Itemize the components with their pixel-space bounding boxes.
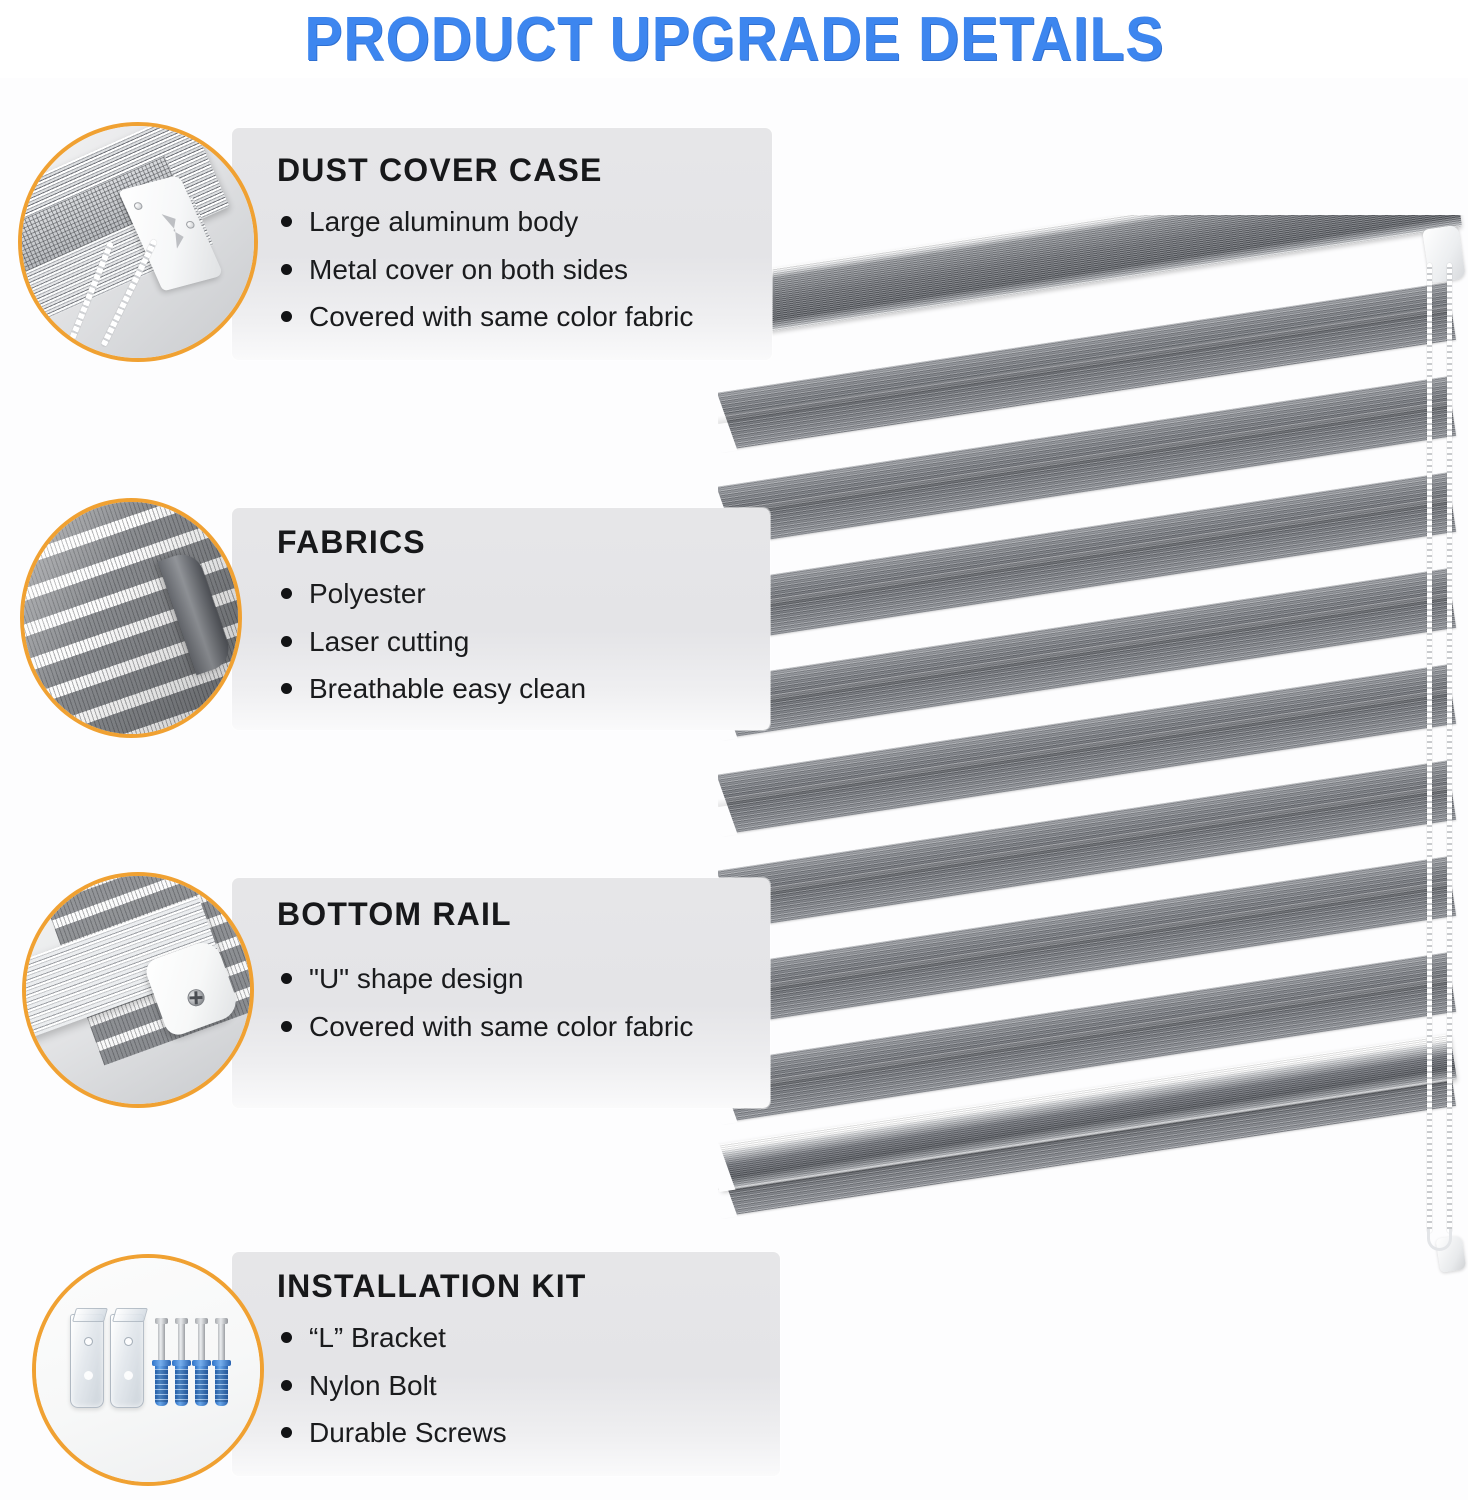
feature-bullet-list: "U" shape design Covered with same color… <box>277 955 693 1050</box>
screw-icon <box>133 201 144 210</box>
nylon-bolt <box>195 1360 208 1406</box>
feature-bullet: Large aluminum body <box>277 198 693 246</box>
feature-bullet-list: Large aluminum body Metal cover on both … <box>277 198 693 341</box>
feature-text-installation-kit: INSTALLATION KIT “L” Bracket Nylon Bolt … <box>277 1268 587 1457</box>
installation-kit-photo <box>32 1254 264 1486</box>
feature-bullet: Covered with same color fabric <box>277 1003 693 1051</box>
l-bracket <box>110 1314 144 1408</box>
feature-title: BOTTOM RAIL <box>277 896 693 933</box>
feature-bullet-list: “L” Bracket Nylon Bolt Durable Screws <box>277 1314 587 1457</box>
title-bar: PRODUCT UPGRADE DETAILS <box>0 0 1468 78</box>
feature-bullet: “L” Bracket <box>277 1314 587 1362</box>
feature-text-bottom-rail: BOTTOM RAIL "U" shape design Covered wit… <box>277 896 693 1050</box>
dust-cover-case-photo <box>18 122 258 362</box>
feature-bullet: Nylon Bolt <box>277 1362 587 1410</box>
phillips-screw-icon <box>185 987 207 1009</box>
durable-screw <box>178 1318 185 1364</box>
bead-chain[interactable] <box>1427 263 1432 1233</box>
feature-text-dust-cover-case: DUST COVER CASE Large aluminum body Meta… <box>277 152 693 341</box>
feature-bullet: Covered with same color fabric <box>277 293 693 341</box>
durable-screw <box>218 1318 225 1364</box>
feature-bullet-list: Polyester Laser cutting Breathable easy … <box>277 570 586 713</box>
fabrics-photo <box>20 498 242 738</box>
feature-title: DUST COVER CASE <box>277 152 693 189</box>
feature-text-fabrics: FABRICS Polyester Laser cutting Breathab… <box>277 524 586 713</box>
page-title: PRODUCT UPGRADE DETAILS <box>304 4 1164 75</box>
blind-assembly <box>718 215 1468 1295</box>
feature-bullet: "U" shape design <box>277 955 693 1003</box>
photo-shading <box>24 502 238 734</box>
zebra-roller-blind-image <box>718 215 1468 1295</box>
feature-bullet: Polyester <box>277 570 586 618</box>
bead-chain[interactable] <box>1447 263 1452 1233</box>
feature-bullet: Laser cutting <box>277 618 586 666</box>
feature-bullet: Breathable easy clean <box>277 665 586 713</box>
nylon-bolt <box>215 1360 228 1406</box>
l-bracket <box>70 1314 104 1408</box>
screw-icon <box>185 220 196 229</box>
nylon-bolt <box>175 1360 188 1406</box>
feature-bullet: Durable Screws <box>277 1409 587 1457</box>
feature-bullet: Metal cover on both sides <box>277 246 693 294</box>
chain-slot <box>161 211 187 249</box>
durable-screw <box>158 1318 165 1364</box>
nylon-bolt <box>155 1360 168 1406</box>
feature-title: FABRICS <box>277 524 586 561</box>
durable-screw <box>198 1318 205 1364</box>
bottom-rail-photo <box>22 872 254 1108</box>
feature-title: INSTALLATION KIT <box>277 1268 587 1305</box>
